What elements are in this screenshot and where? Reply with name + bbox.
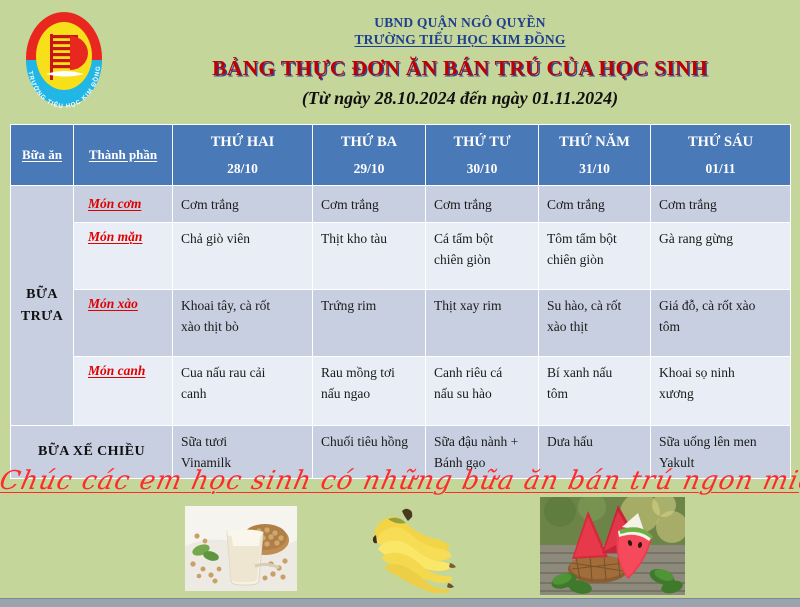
col-header-meal: Bữa ăn [11,125,74,186]
dish-line: Cua nấu rau cải [181,362,307,383]
dish-line: Gà rang gừng [659,228,785,249]
component-cell-savory: Món mặn [74,223,173,290]
banana-photo-image [368,505,458,593]
dish-line: chiên giòn [547,249,645,270]
col-header-wednesday-dow: THỨ TƯ [426,132,538,152]
col-header-wednesday: THỨ TƯ 30/10 [426,125,539,186]
date-range-subtitle: (Từ ngày 28.10.2024 đến ngày 01.11.2024) [130,88,790,109]
dish-cell-savory-wed: Cá tẩm bột chiên giòn [426,223,539,290]
dish-cell-rice-wed: Cơm trắng [426,186,539,223]
meal-lunch-line1: BỮA [26,287,58,302]
dish-line: Thịt kho tàu [321,228,420,249]
dish-line: Cơm trắng [181,194,307,215]
col-header-thursday-dow: THỨ NĂM [539,132,650,152]
table-row: Món xào Khoai tây, cà rốt xào thịt bò Tr… [11,290,791,357]
dish-line: canh [181,383,307,404]
poster-header: TRƯỜNG TIỂU HỌC KIM ĐỒNG UBND QUẬN NGÔ Q… [0,0,800,120]
org-line-district: UBND QUẬN NGÔ QUYỀN [130,14,790,31]
dish-line: tôm [659,316,785,337]
col-header-thursday-date: 31/10 [539,159,650,179]
watermelon-photo-image [540,497,685,595]
dish-line: xào thịt bò [181,316,307,337]
soy-milk-photo [185,506,297,591]
table-row: BỮA TRƯA Món cơm Cơm trắng Cơm trắng Cơm… [11,186,791,223]
dish-cell-stirfry-thu: Su hào, cà rốt xào thịt [539,290,651,357]
soy-milk-photo-image [185,506,297,591]
dish-cell-stirfry-tue: Trứng rim [313,290,426,357]
col-header-wednesday-date: 30/10 [426,159,538,179]
wish-banner: Chúc các em học sinh có những bữa ăn bán… [0,466,800,496]
col-header-monday-dow: THỨ HAI [173,132,312,152]
school-logo-icon: TRƯỜNG TIỂU HỌC KIM ĐỒNG [12,6,116,110]
dish-line: Bí xanh nấu [547,362,645,383]
dish-line: Cơm trắng [434,194,533,215]
organization-block: UBND QUẬN NGÔ QUYỀN TRƯỜNG TIỂU HỌC KIM … [130,14,790,48]
col-header-thursday: THỨ NĂM 31/10 [539,125,651,186]
col-header-friday-date: 01/11 [651,159,790,179]
dish-line: Rau mồng tơi [321,362,420,383]
col-header-monday: THỨ HAI 28/10 [173,125,313,186]
dish-cell-soup-fri: Khoai sọ ninh xương [651,357,791,426]
dish-line: Su hào, cà rốt [547,295,645,316]
col-header-tuesday: THỨ BA 29/10 [313,125,426,186]
dish-line: Cá tẩm bột [434,228,533,249]
dish-cell-rice-mon: Cơm trắng [173,186,313,223]
col-header-tuesday-dow: THỨ BA [313,132,425,152]
dish-line: tôm [547,383,645,404]
dish-cell-savory-tue: Thịt kho tàu [313,223,426,290]
dish-line: Trứng rim [321,295,420,316]
dish-cell-rice-thu: Cơm trắng [539,186,651,223]
table-row: Món mặn Chả giò viên Thịt kho tàu Cá tẩm… [11,223,791,290]
meal-lunch-line2: TRƯA [21,309,63,324]
dish-line: Cơm trắng [547,194,645,215]
dish-line: Khoai tây, cà rốt [181,295,307,316]
dish-cell-stirfry-mon: Khoai tây, cà rốt xào thịt bò [173,290,313,357]
dish-line: nấu ngao [321,383,420,404]
dish-line: Canh riêu cá [434,362,533,383]
menu-poster: TRƯỜNG TIỂU HỌC KIM ĐỒNG UBND QUẬN NGÔ Q… [0,0,800,606]
page-title: BẢNG THỰC ĐƠN ĂN BÁN TRÚ CỦA HỌC SINH [130,56,790,81]
component-cell-rice: Món cơm [74,186,173,223]
menu-table: Bữa ăn Thành phần THỨ HAI 28/10 THỨ BA 2… [10,124,791,479]
dish-line: Sữa uống lên men [659,431,785,452]
dish-cell-soup-mon: Cua nấu rau cải canh [173,357,313,426]
dish-line: Chả giò viên [181,228,307,249]
dish-line: Tôm tẩm bột [547,228,645,249]
dish-line: chiên giòn [434,249,533,270]
banana-photo [368,505,458,593]
dish-line: Sữa đậu nành + [434,431,533,452]
col-header-monday-date: 28/10 [173,159,312,179]
dish-cell-soup-wed: Canh riêu cá nấu su hào [426,357,539,426]
meal-cell-lunch: BỮA TRƯA [11,186,74,426]
col-header-component: Thành phần [74,125,173,186]
dish-cell-stirfry-fri: Giá đỗ, cà rốt xào tôm [651,290,791,357]
dish-line: Khoai sọ ninh [659,362,785,383]
dish-line: Giá đỗ, cà rốt xào [659,295,785,316]
col-header-tuesday-date: 29/10 [313,159,425,179]
dish-cell-soup-tue: Rau mồng tơi nấu ngao [313,357,426,426]
dish-line: Cơm trắng [321,194,420,215]
org-line-school: TRƯỜNG TIỂU HỌC KIM ĐỒNG [130,31,790,48]
dish-cell-stirfry-wed: Thịt xay rim [426,290,539,357]
dish-cell-savory-mon: Chả giò viên [173,223,313,290]
dish-line: Chuối tiêu hồng [321,431,420,452]
dish-cell-savory-fri: Gà rang gừng [651,223,791,290]
dish-cell-rice-tue: Cơm trắng [313,186,426,223]
dish-line: Thịt xay rim [434,295,533,316]
dish-line: Dưa hấu [547,431,645,452]
col-header-friday-dow: THỨ SÁU [651,132,790,152]
col-header-friday: THỨ SÁU 01/11 [651,125,791,186]
dish-cell-soup-thu: Bí xanh nấu tôm [539,357,651,426]
school-logo: TRƯỜNG TIỂU HỌC KIM ĐỒNG [12,6,116,110]
component-cell-stirfry: Món xào [74,290,173,357]
dish-line: Cơm trắng [659,194,785,215]
dish-cell-rice-fri: Cơm trắng [651,186,791,223]
table-header-row: Bữa ăn Thành phần THỨ HAI 28/10 THỨ BA 2… [11,125,791,186]
dish-line: xương [659,383,785,404]
component-cell-soup: Món canh [74,357,173,426]
watermelon-photo [540,497,685,595]
dish-cell-savory-thu: Tôm tẩm bột chiên giòn [539,223,651,290]
dish-line: xào thịt [547,316,645,337]
dish-line: nấu su hào [434,383,533,404]
dish-line: Sữa tươi [181,431,307,452]
table-row: Món canh Cua nấu rau cải canh Rau mồng t… [11,357,791,426]
